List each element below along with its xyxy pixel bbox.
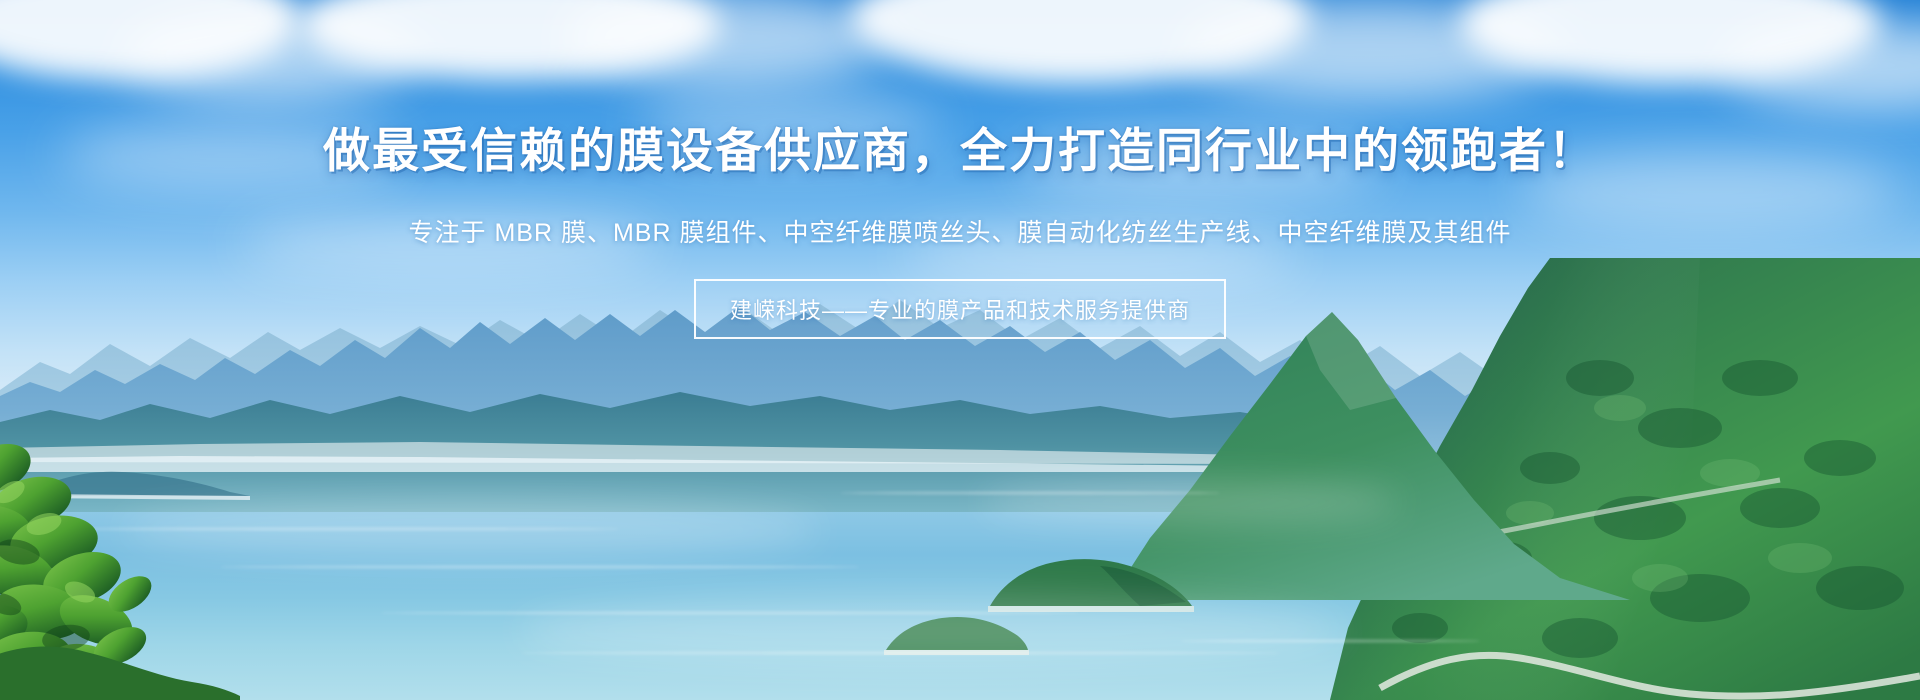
water-ripple bbox=[1180, 640, 1480, 642]
cloud-icon bbox=[640, 95, 940, 155]
water-ripple bbox=[220, 566, 860, 568]
water-ripple bbox=[840, 492, 1220, 494]
water-ripple bbox=[520, 652, 1280, 654]
foreground-shrub-bottom-left bbox=[0, 640, 240, 700]
cloud-icon bbox=[1520, 150, 1900, 230]
cloud-icon bbox=[60, 120, 400, 190]
tagline-badge[interactable]: 建嵘科技——专业的膜产品和技术服务提供商 bbox=[694, 279, 1226, 339]
hero-banner: 做最受信赖的膜设备供应商，全力打造同行业中的领跑者！ 专注于 MBR 膜、MBR… bbox=[0, 0, 1920, 700]
cloud-icon bbox=[240, 215, 660, 275]
water-sheen bbox=[520, 596, 1340, 666]
cloud-icon bbox=[1020, 130, 1380, 200]
water-ripple bbox=[380, 612, 1080, 614]
water-sheen bbox=[980, 480, 1400, 524]
